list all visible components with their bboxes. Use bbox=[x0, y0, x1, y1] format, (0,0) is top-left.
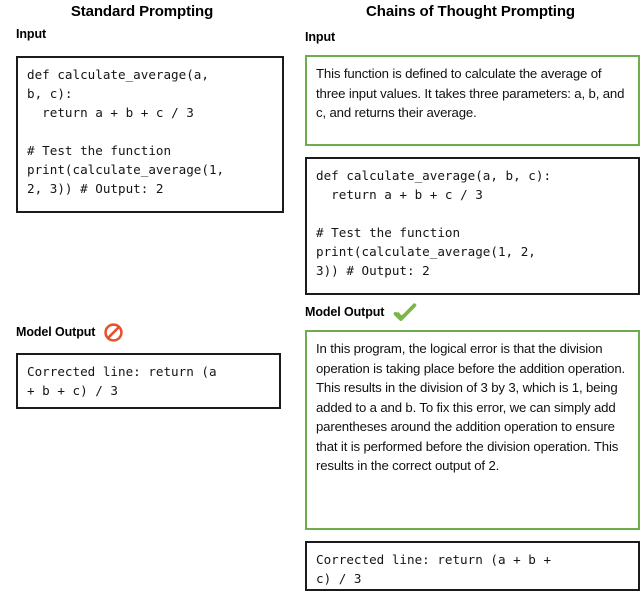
cot-input-label: Input bbox=[305, 30, 335, 45]
standard-model-output-label-text: Model Output bbox=[16, 325, 95, 340]
standard-input-code-box: def calculate_average(a, b, c): return a… bbox=[16, 56, 284, 213]
cot-input-code-text: def calculate_average(a, b, c): return a… bbox=[316, 166, 630, 280]
check-mark-icon bbox=[393, 303, 417, 322]
standard-model-output-box: Corrected line: return (a + b + c) / 3 bbox=[16, 353, 281, 409]
cot-model-output-code-box: Corrected line: return (a + b + c) / 3 bbox=[305, 541, 640, 591]
figure-root: { "left": { "title": "Standard Prompting… bbox=[0, 0, 640, 594]
prohibition-icon bbox=[104, 323, 123, 342]
cot-input-label-text: Input bbox=[305, 30, 335, 45]
cot-model-output-label-text: Model Output bbox=[305, 305, 384, 320]
cot-input-code-box: def calculate_average(a, b, c): return a… bbox=[305, 157, 640, 295]
cot-model-output-explanation-text: In this program, the logical error is th… bbox=[316, 339, 630, 476]
standard-input-label-text: Input bbox=[16, 27, 46, 42]
chain-of-thought-title: Chains of Thought Prompting bbox=[303, 3, 638, 21]
cot-model-output-label: Model Output bbox=[305, 303, 417, 322]
standard-input-label: Input bbox=[16, 27, 46, 42]
standard-model-output-label: Model Output bbox=[16, 323, 123, 342]
cot-input-explanation-text: This function is defined to calculate th… bbox=[316, 64, 630, 123]
standard-input-code-text: def calculate_average(a, b, c): return a… bbox=[27, 65, 274, 198]
standard-prompting-title: Standard Prompting bbox=[8, 3, 276, 21]
standard-model-output-code-text: Corrected line: return (a + b + c) / 3 bbox=[27, 362, 271, 400]
cot-model-output-code-text: Corrected line: return (a + b + c) / 3 bbox=[316, 550, 630, 588]
cot-model-output-explanation-box: In this program, the logical error is th… bbox=[305, 330, 640, 530]
cot-input-explanation-box: This function is defined to calculate th… bbox=[305, 55, 640, 146]
